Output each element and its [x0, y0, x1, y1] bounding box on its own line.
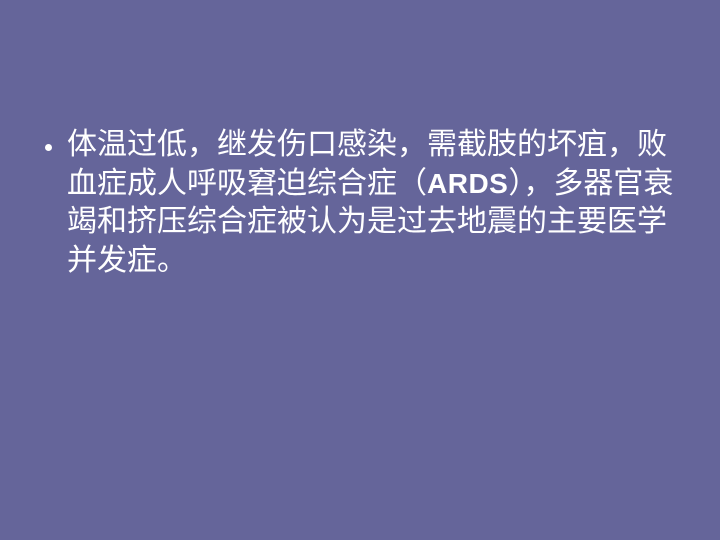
bullet-dot-icon	[45, 144, 52, 151]
bullet-paragraph: 体温过低，继发伤口感染，需截肢的坏疽，败血症成人呼吸窘迫综合症（ARDS），多器…	[67, 126, 692, 280]
body-text-placeholder: 体温过低，继发伤口感染，需截肢的坏疽，败血症成人呼吸窘迫综合症（ARDS），多器…	[36, 126, 692, 280]
bullet-text-acronym: ARDS	[427, 168, 508, 199]
slide-canvas: 体温过低，继发伤口感染，需截肢的坏疽，败血症成人呼吸窘迫综合症（ARDS），多器…	[0, 0, 720, 540]
list-item: 体温过低，继发伤口感染，需截肢的坏疽，败血症成人呼吸窘迫综合症（ARDS），多器…	[36, 126, 692, 280]
